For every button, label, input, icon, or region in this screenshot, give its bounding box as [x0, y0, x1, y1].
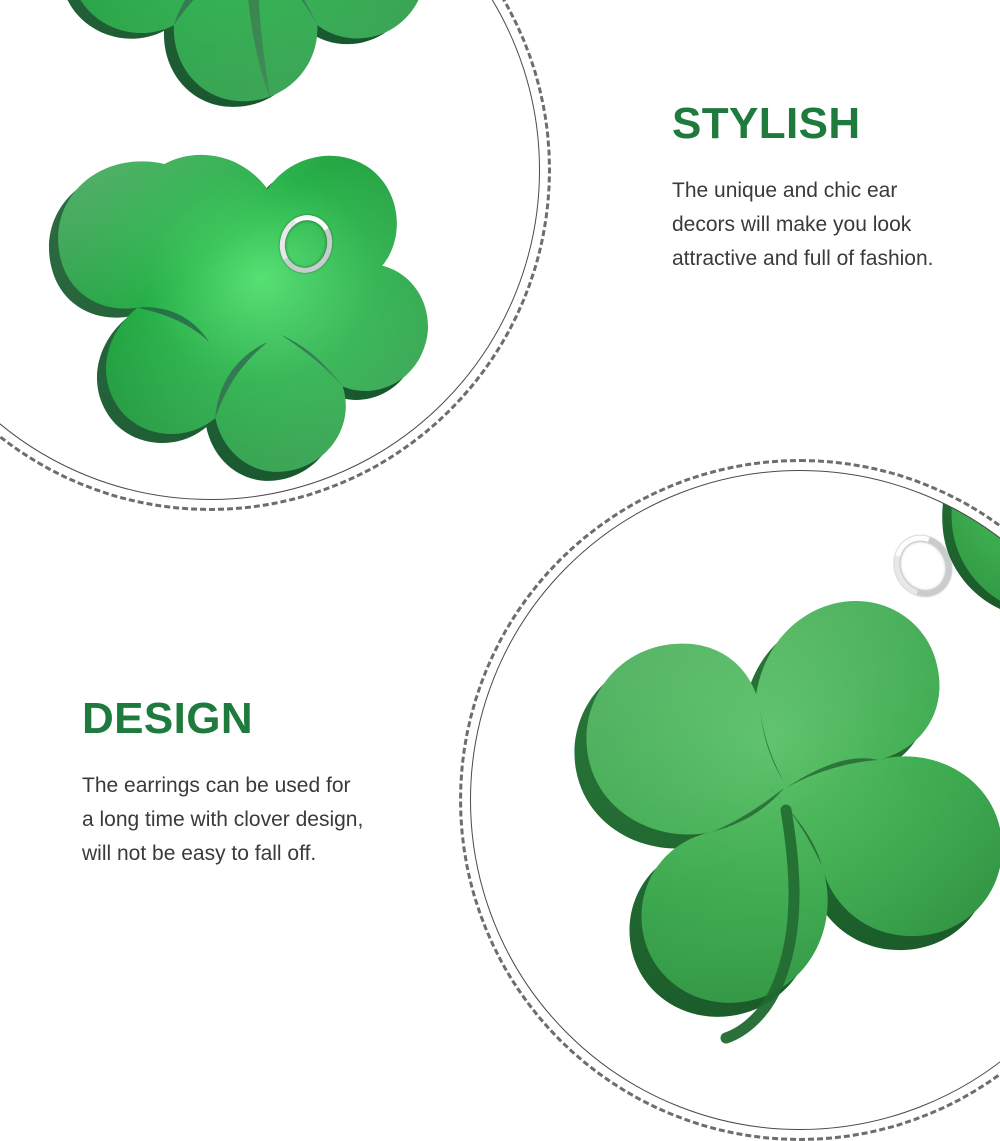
- feature-body-line: The earrings can be used for: [82, 769, 394, 803]
- feature-body-stylish: The unique and chic ear decors will make…: [672, 174, 984, 276]
- photo-top-left-content: [0, 0, 540, 500]
- photo-bottom-right: [470, 470, 1000, 1130]
- feature-heading-design: DESIGN: [82, 697, 394, 741]
- clover-lower: [41, 133, 443, 500]
- feature-body-line: attractive and full of fashion.: [672, 242, 984, 276]
- feature-body-line: The unique and chic ear: [672, 174, 984, 208]
- feature-body-line: a long time with clover design,: [82, 803, 394, 837]
- feature-body-line: will not be easy to fall off.: [82, 837, 394, 871]
- photo-bottom-right-content: [470, 470, 1000, 1130]
- product-feature-panel: STYLISH The unique and chic ear decors w…: [0, 0, 1000, 1000]
- clover-main: [574, 601, 1000, 1038]
- clover-upper: [8, 0, 453, 132]
- feature-body-line: decors will make you look: [672, 208, 984, 242]
- feature-body-design: The earrings can be used for a long time…: [82, 769, 394, 871]
- clover-pair-illustration: [0, 0, 540, 500]
- feature-block-design: DESIGN The earrings can be used for a lo…: [82, 697, 394, 871]
- feature-heading-stylish: STYLISH: [672, 102, 984, 146]
- feature-block-stylish: STYLISH The unique and chic ear decors w…: [672, 102, 984, 276]
- photo-top-left: [0, 0, 540, 500]
